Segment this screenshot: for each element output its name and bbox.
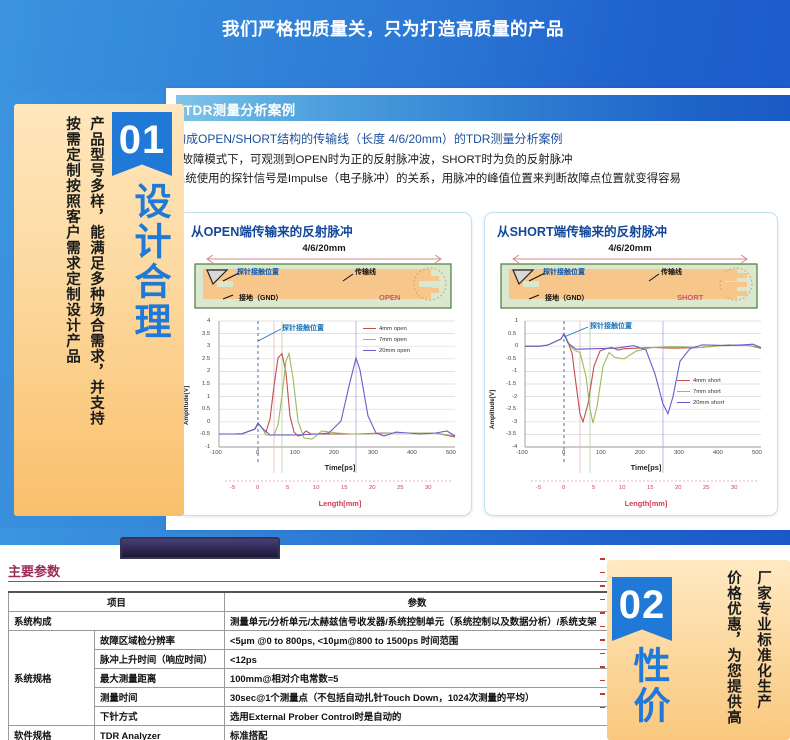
table-row: 软件规格 TDR Analyzer 标准搭配 (9, 726, 610, 740)
chart-short-ltick-n5: -5 (536, 485, 541, 491)
legend-swatch-icon (677, 391, 690, 393)
panel-open-title: 从OPEN端传输来的反射脉冲 (191, 221, 353, 240)
chart-open-ytick-n05: -0.5 (200, 431, 210, 437)
tdr-content-card: TDR测量分析案例 构成OPEN/SHORT结构的传输线（长度 4/6/20mm… (166, 88, 790, 530)
chart-short-xaxis-title: Time[ps] (505, 463, 778, 472)
card-titlebar: TDR测量分析案例 (176, 95, 790, 121)
row-item: 最大测量距离 (95, 669, 225, 688)
legend-item: 4mm short (677, 375, 724, 386)
chart-open-xtick-400: 400 (407, 450, 417, 456)
feature-01-badge: 01 (112, 112, 172, 176)
chart-short-xtick-0: 0 (562, 450, 565, 456)
legend-swatch-icon (363, 350, 376, 352)
chart-short-ytick-n05: -0.5 (506, 356, 516, 362)
chart-short-ytick-n2: -2 (512, 394, 517, 400)
chart-open-legend: 4mm open 7mm open 20mm open (363, 323, 410, 356)
band-bottom-strip (0, 528, 790, 545)
chart-open-ytick-1: 1 (207, 394, 210, 400)
chart-open-xtick-n100: -100 (210, 450, 222, 456)
chart-open-ltick-15: 15 (341, 485, 348, 491)
legend-swatch-icon (677, 402, 690, 404)
chart-short-xtick-300: 300 (674, 450, 684, 456)
chart-open: Amplitude[V] (185, 313, 467, 511)
chart-open-xtick-200: 200 (329, 450, 339, 456)
table-row: 脉冲上升时间（响应时间） <12ps (9, 650, 610, 669)
legend-label: 4mm short (693, 378, 721, 384)
chart-short-ytick-1: 1 (515, 318, 518, 324)
legend-label: 7mm short (693, 389, 721, 395)
row-item: 下针方式 (95, 707, 225, 726)
chart-short-ltick-5: 5 (592, 485, 595, 491)
row-value: <5μm @0 to 800ps, <10μm@800 to 1500ps 时间… (225, 631, 610, 650)
table-row: 系统构成 测量单元/分析单元/太赫兹信号收发器/系统控制单元（系统控制以及数据分… (9, 612, 610, 631)
row-value: 30sec@1个测量点（不包括自动扎针Touch Down，1024次测量的平均… (225, 688, 610, 707)
schematic-end-label-open: OPEN (379, 293, 400, 302)
legend-label: 7mm open (379, 337, 407, 343)
row-item: 测量时间 (95, 688, 225, 707)
chart-open-ytick-3: 3 (207, 343, 210, 349)
row-value: 100mm@相对介电常数=5 (225, 669, 610, 688)
chart-short-ytick-n25: -2.5 (506, 406, 516, 412)
row-value: <12ps (225, 650, 610, 669)
banner-title: 我们严格把质量关，只为打造高质量的产品 (222, 16, 564, 41)
chart-short-xtick-500: 500 (752, 450, 762, 456)
chart-short-xtick-200: 200 (635, 450, 645, 456)
params-table: 项目 参数 系统构成 测量单元/分析单元/太赫兹信号收发器/系统控制单元（系统控… (8, 591, 610, 740)
chart-short: Amplitude[V] (491, 313, 773, 511)
chart-short-xtick-100: 100 (596, 450, 606, 456)
row-item: TDR Analyzer (95, 726, 225, 740)
schematic-probe-label-open: 探针接触位置 (237, 267, 279, 277)
chart-open-ytick-4: 4 (207, 318, 210, 324)
row-item: 脉冲上升时间（响应时间） (95, 650, 225, 669)
chart-open-xaxis-title: Time[ps] (199, 463, 472, 472)
row-value: 标准搭配 (225, 726, 610, 740)
chart-short-ltick-20: 20 (675, 485, 682, 491)
table-row: 下针方式 选用External Prober Control时是自动的 (9, 707, 610, 726)
chart-open-ltick-n5: -5 (230, 485, 235, 491)
legend-label: 20mm short (693, 400, 724, 406)
top-banner: 我们严格把质量关，只为打造高质量的产品 (0, 0, 790, 92)
chart-open-annotation: 探针接触位置 (282, 323, 324, 333)
params-section-title: 主要参数 (8, 561, 60, 580)
legend-swatch-icon (363, 339, 376, 341)
feature-card-02: 02 性价 厂家专业标准化生产 价格优惠，为您提供高 (607, 560, 790, 740)
chart-short-ltick-25: 25 (703, 485, 710, 491)
chart-open-ytick-35: 3.5 (202, 331, 210, 337)
chart-short-ytick-n35: -3.5 (506, 431, 516, 437)
params-section-rule (8, 581, 610, 582)
schematic-line-label-short: 传输线 (661, 267, 682, 277)
legend-item: 20mm open (363, 345, 410, 356)
chart-short-ytick-n15: -1.5 (506, 381, 516, 387)
legend-swatch-icon (677, 380, 690, 382)
chart-open-length-axis-title: Length[mm] (199, 499, 472, 508)
table-header-row: 项目 参数 (9, 592, 610, 612)
chart-open-ltick-0: 0 (256, 485, 259, 491)
chart-open-ltick-20: 20 (369, 485, 376, 491)
panel-short-title: 从SHORT端传输来的反射脉冲 (497, 221, 667, 240)
chart-open-xtick-500: 500 (446, 450, 456, 456)
chart-short-annotation: 探针接触位置 (590, 321, 632, 331)
legend-item: 7mm short (677, 386, 724, 397)
row-group: 软件规格 (9, 726, 95, 740)
feature-02-headline: 性价 (621, 646, 675, 726)
chart-open-ytick-15: 1.5 (202, 381, 210, 387)
schematic-open: 4/6/20mm (193, 243, 455, 309)
chart-short-ytick-05: 0.5 (508, 331, 516, 337)
card-line-3: 系统使用的探针信号是Impulse（电子脉冲）的关系，用脉冲的峰值位置来判断故障… (174, 170, 681, 186)
chart-open-ytick-05: 0.5 (202, 406, 210, 412)
chart-short-xtick-n100: -100 (516, 450, 528, 456)
table-row: 最大测量距离 100mm@相对介电常数=5 (9, 669, 610, 688)
row-value: 测量单元/分析单元/太赫兹信号收发器/系统控制单元（系统控制以及数据分析）/系统… (225, 612, 610, 631)
table-header-item: 项目 (9, 592, 225, 612)
table-edge-ticks (600, 558, 605, 740)
legend-swatch-icon (363, 328, 376, 330)
feature-02-badge: 02 (612, 577, 672, 641)
chart-open-ltick-25: 25 (397, 485, 404, 491)
chart-short-ltick-0: 0 (562, 485, 565, 491)
chart-open-ltick-10: 10 (313, 485, 320, 491)
schematic-line-label-open: 传输线 (355, 267, 376, 277)
panel-short: 从SHORT端传输来的反射脉冲 4/6/20mm (484, 212, 778, 516)
chart-short-ytick-0: 0 (515, 343, 518, 349)
row-item: 故障区域检分辨率 (95, 631, 225, 650)
feature-02-text-line-1: 厂家专业标准化生产 (753, 570, 774, 710)
row-group: 系统构成 (9, 612, 225, 631)
chart-open-xtick-100: 100 (290, 450, 300, 456)
schematic-probe-label-short: 探针接触位置 (543, 267, 585, 277)
table-header-value: 参数 (225, 592, 610, 612)
card-titlebar-label: TDR测量分析案例 (184, 99, 295, 119)
chart-short-ytick-n3: -3 (512, 419, 517, 425)
chart-open-ltick-5: 5 (286, 485, 289, 491)
legend-item: 20mm short (677, 397, 724, 408)
table-row: 测量时间 30sec@1个测量点（不包括自动扎针Touch Down，1024次… (9, 688, 610, 707)
chart-short-ytick-n1: -1 (512, 368, 517, 374)
legend-item: 4mm open (363, 323, 410, 334)
schematic-short: 4/6/20mm 探针接触位置 传输线 接地（G (499, 243, 761, 309)
chart-open-ytick-25: 2.5 (202, 356, 210, 362)
legend-label: 20mm open (379, 348, 410, 354)
chart-short-xtick-400: 400 (713, 450, 723, 456)
row-value: 选用External Prober Control时是自动的 (225, 707, 610, 726)
chart-open-xtick-300: 300 (368, 450, 378, 456)
table-row: 系统规格 故障区域检分辨率 <5μm @0 to 800ps, <10μm@80… (9, 631, 610, 650)
row-group: 系统规格 (9, 631, 95, 726)
chart-short-ltick-15: 15 (647, 485, 654, 491)
card-line-1: 构成OPEN/SHORT结构的传输线（长度 4/6/20mm）的TDR测量分析案… (174, 130, 562, 147)
feature-01-text-line-2: 按需定制按照客户需求定制设计产品 (62, 116, 83, 364)
legend-label: 4mm open (379, 326, 407, 332)
chart-open-xtick-0: 0 (256, 450, 259, 456)
schematic-gnd-label-short: 接地（GND） (545, 293, 589, 303)
chart-open-ltick-30: 30 (425, 485, 432, 491)
chart-short-legend: 4mm short 7mm short 20mm short (677, 375, 724, 408)
panel-open: 从OPEN端传输来的反射脉冲 4/6/20mm (178, 212, 472, 516)
chart-short-length-axis-title: Length[mm] (505, 499, 778, 508)
card-line-2: E故障模式下，可观测到OPEN时为正的反射脉冲波，SHORT时为负的反射脉冲 (174, 151, 572, 167)
chart-short-ltick-10: 10 (619, 485, 626, 491)
chart-open-ytick-0: 0 (207, 419, 210, 425)
feature-card-01: 01 设计合理 产品型号多样，能满足多种场合需求，并支持 按需定制按照客户需求定… (14, 104, 184, 516)
monitor-device-image (120, 537, 280, 559)
feature-01-headline: 设计合理 (122, 182, 176, 342)
chart-short-ltick-30: 30 (731, 485, 738, 491)
chart-open-ytick-2: 2 (207, 368, 210, 374)
feature-02-text-line-2: 价格优惠，为您提供高 (723, 570, 744, 725)
legend-item: 7mm open (363, 334, 410, 345)
schematic-end-label-short: SHORT (677, 293, 703, 302)
feature-01-text-line-1: 产品型号多样，能满足多种场合需求，并支持 (86, 116, 107, 426)
schematic-gnd-label-open: 接地（GND） (239, 293, 283, 303)
